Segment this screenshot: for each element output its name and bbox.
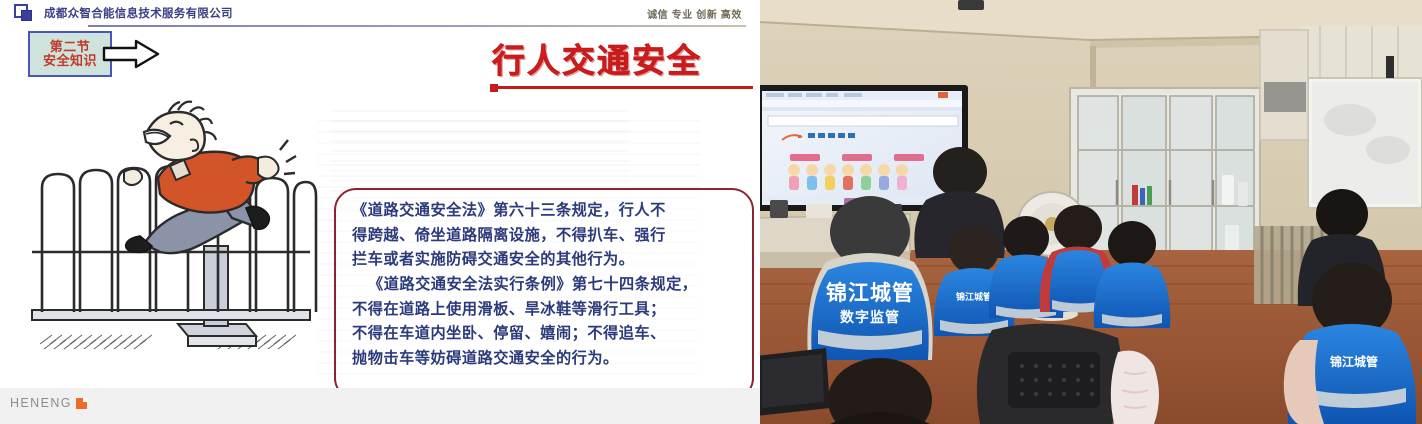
slide-footer: HENENG xyxy=(0,388,760,424)
cartoon-man-climbing-guardrail xyxy=(18,96,318,381)
svg-text:锦江城管: 锦江城管 xyxy=(956,291,992,302)
slide-header: 成都众智合能信息技术服务有限公司 诚信 专业 创新 高效 xyxy=(0,0,760,28)
page-title: 行人交通安全 xyxy=(492,34,702,82)
law-line-3: 拦车或者实施防碍交通安全的其他行为。 xyxy=(352,248,736,273)
slide-photo-composite: 成都众智合能信息技术服务有限公司 诚信 专业 创新 高效 第二节 安全知识 行人… xyxy=(0,0,1422,424)
presentation-slide: 成都众智合能信息技术服务有限公司 诚信 专业 创新 高效 第二节 安全知识 行人… xyxy=(0,0,760,424)
law-text-box: 《道路交通安全法》第六十三条规定，行人不 得跨越、倚坐道路隔离设施，不得扒车、强… xyxy=(334,188,754,400)
logo-square-filled xyxy=(21,10,32,21)
training-session-photo: 锦江城管 数字监管 锦江城管 xyxy=(760,0,1422,424)
heneng-logo: HENENG xyxy=(10,396,87,410)
heneng-square-icon xyxy=(76,398,87,409)
footer-brand-text: HENENG xyxy=(10,396,72,410)
law-line-6: 不得在车道内坐卧、停留、嬉闹；不得追车、 xyxy=(352,322,736,347)
law-line-2: 得跨越、倚坐道路隔离设施，不得扒车、强行 xyxy=(352,224,736,249)
svg-text:锦江城管: 锦江城管 xyxy=(826,281,914,305)
svg-text:锦江城管: 锦江城管 xyxy=(1330,354,1378,369)
section-chip-line1: 第二节 xyxy=(50,40,91,54)
section-chip-group: 第二节 安全知识 xyxy=(28,31,158,79)
company-name: 成都众智合能信息技术服务有限公司 xyxy=(44,5,233,21)
company-slogan: 诚信 专业 创新 高效 xyxy=(647,6,742,21)
right-arrow-icon xyxy=(102,39,160,69)
section-chip: 第二节 安全知识 xyxy=(28,31,112,77)
law-line-1: 《道路交通安全法》第六十三条规定，行人不 xyxy=(352,199,736,224)
header-divider xyxy=(88,25,746,27)
two-squares-logo-icon xyxy=(14,4,38,22)
section-chip-line2: 安全知识 xyxy=(43,54,97,68)
law-line-4: 《道路交通安全法实行条例》第七十四条规定， xyxy=(352,273,736,298)
law-line-5: 不得在道路上使用滑板、旱冰鞋等滑行工具； xyxy=(352,298,736,323)
title-underline xyxy=(492,86,753,89)
law-line-7: 抛物击车等妨碍道路交通安全的行为。 xyxy=(352,347,736,372)
svg-text:数字监管: 数字监管 xyxy=(840,309,900,325)
